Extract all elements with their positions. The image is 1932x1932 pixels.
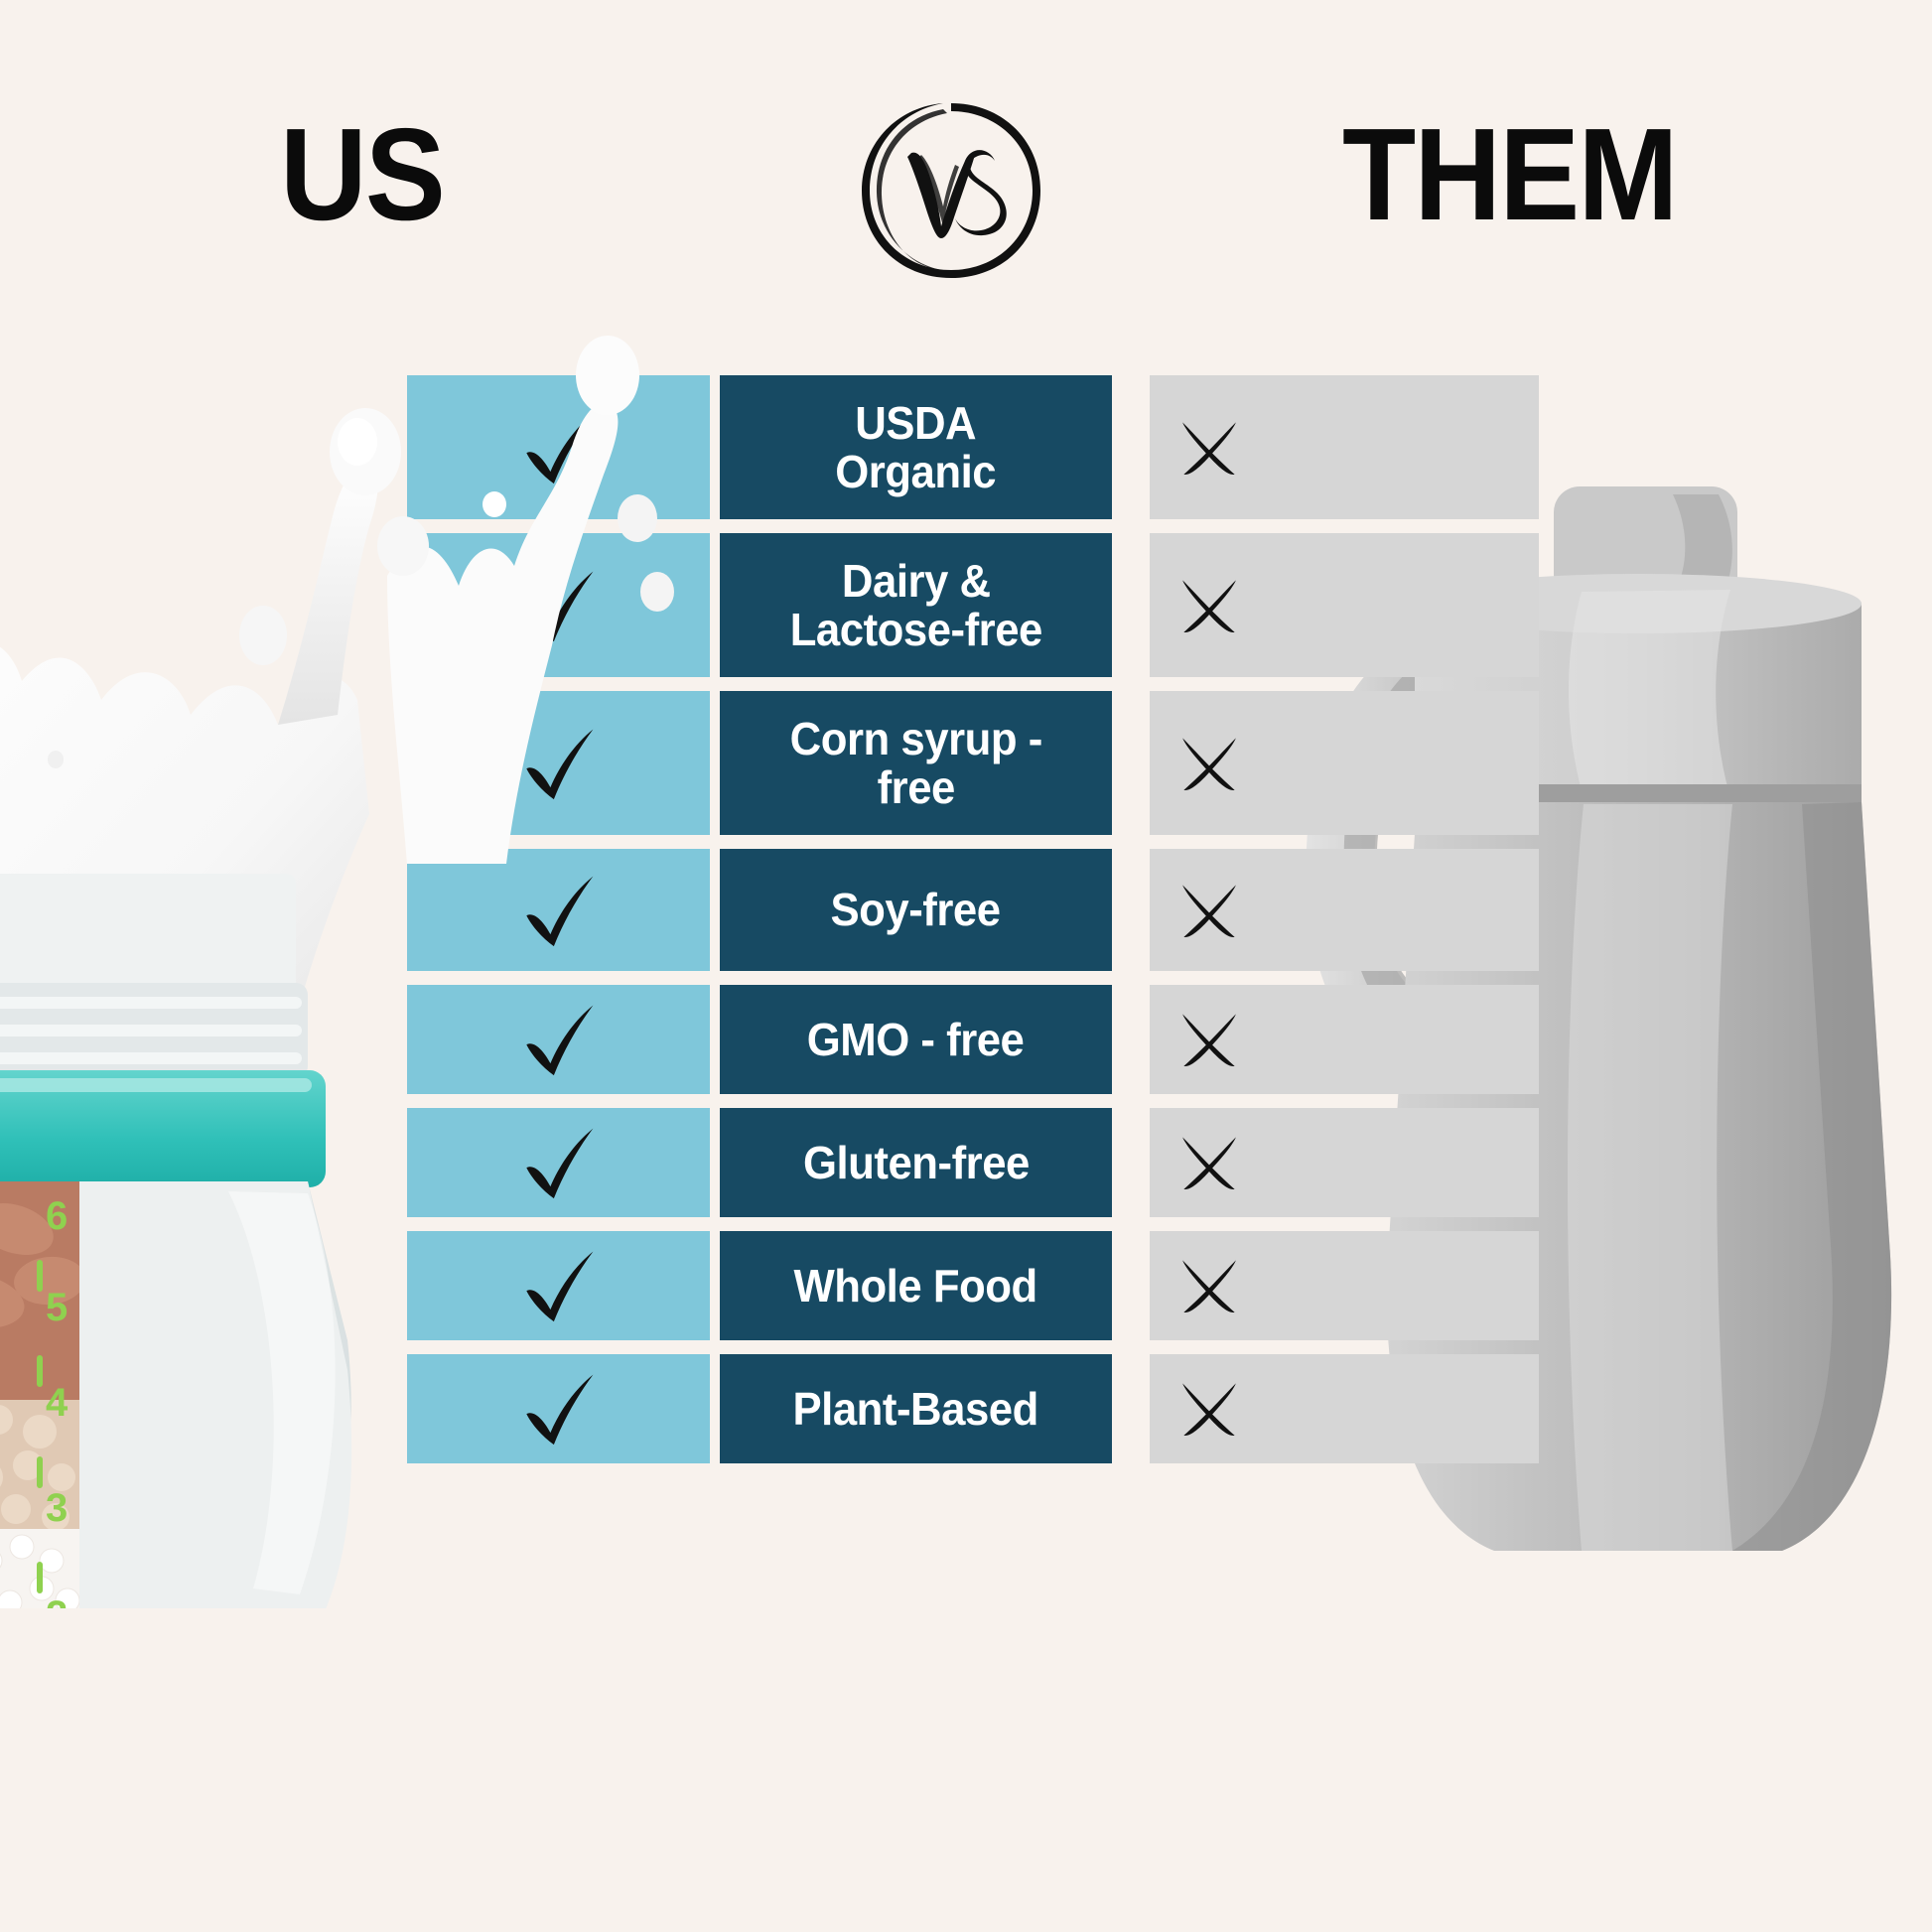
table-row: GMO - free (407, 985, 1539, 1094)
column-gap (710, 533, 720, 677)
row-gap (407, 971, 1539, 985)
feature-cell: Whole Food (720, 1231, 1112, 1340)
them-cell (1150, 533, 1539, 677)
column-gap (1112, 375, 1150, 519)
column-gap (1112, 849, 1150, 971)
x-icon (1177, 1131, 1241, 1194)
us-cell (407, 1108, 710, 1217)
feature-label: Gluten-free (803, 1139, 1030, 1186)
them-cell (1150, 375, 1539, 519)
feature-label: Corn syrup - free (789, 715, 1041, 811)
check-icon (516, 405, 602, 490)
infographic-canvas: 6 5 4 3 2 (0, 0, 1932, 1932)
column-gap (710, 985, 720, 1094)
them-cell (1150, 849, 1539, 971)
page-title-us: US (280, 109, 444, 240)
comparison-table: USDA Organic Dai (407, 375, 1539, 1463)
check-icon (516, 868, 602, 953)
table-row: Plant-Based (407, 1354, 1539, 1463)
column-gap (710, 1108, 720, 1217)
column-gap (1112, 691, 1150, 835)
x-icon (1177, 1008, 1241, 1071)
svg-text:4: 4 (46, 1381, 69, 1425)
feature-cell: Corn syrup - free (720, 691, 1112, 835)
column-gap (1112, 985, 1150, 1094)
check-icon (516, 997, 602, 1082)
svg-text:5: 5 (46, 1286, 68, 1329)
us-cell (407, 849, 710, 971)
them-cell (1150, 1354, 1539, 1463)
feature-label: Dairy & Lactose-free (789, 557, 1041, 653)
column-gap (1112, 1108, 1150, 1217)
svg-text:3: 3 (46, 1486, 68, 1530)
check-icon (516, 1243, 602, 1328)
x-icon (1177, 732, 1241, 795)
x-icon (1177, 574, 1241, 637)
check-icon (516, 1366, 602, 1451)
feature-cell: Dairy & Lactose-free (720, 533, 1112, 677)
svg-text:2: 2 (46, 1593, 68, 1608)
vs-circle-badge-icon (856, 95, 1046, 286)
feature-label: Whole Food (794, 1262, 1037, 1310)
feature-cell: Gluten-free (720, 1108, 1112, 1217)
column-gap (1112, 1354, 1150, 1463)
x-icon (1177, 1377, 1241, 1441)
row-gap (407, 1217, 1539, 1231)
row-gap (407, 835, 1539, 849)
feature-label: GMO - free (807, 1016, 1025, 1063)
table-row: USDA Organic (407, 375, 1539, 519)
column-gap (710, 691, 720, 835)
row-gap (407, 1094, 1539, 1108)
them-cell (1150, 1108, 1539, 1217)
svg-text:6: 6 (46, 1194, 68, 1238)
table-row: Gluten-free (407, 1108, 1539, 1217)
feature-cell: USDA Organic (720, 375, 1112, 519)
feature-cell: Plant-Based (720, 1354, 1112, 1463)
them-cell (1150, 1231, 1539, 1340)
column-gap (710, 849, 720, 971)
them-cell (1150, 985, 1539, 1094)
column-gap (1112, 1231, 1150, 1340)
x-icon (1177, 416, 1241, 480)
them-cell (1150, 691, 1539, 835)
us-cell (407, 375, 710, 519)
us-cell (407, 1354, 710, 1463)
column-gap (710, 1354, 720, 1463)
row-gap (407, 677, 1539, 691)
x-icon (1177, 1254, 1241, 1317)
page-title-them: THEM (1342, 109, 1677, 240)
bottle-icon: 6 5 4 3 2 (0, 874, 447, 1608)
feature-label: Plant-Based (793, 1385, 1038, 1433)
us-cell (407, 533, 710, 677)
feature-label: Soy-free (831, 886, 1001, 933)
column-gap (1112, 533, 1150, 677)
table-row: Soy-free (407, 849, 1539, 971)
check-icon (516, 1120, 602, 1205)
table-row: Whole Food (407, 1231, 1539, 1340)
table-row: Corn syrup - free (407, 691, 1539, 835)
us-cell (407, 691, 710, 835)
feature-label: USDA Organic (836, 399, 997, 495)
column-gap (710, 375, 720, 519)
check-icon (516, 563, 602, 648)
feature-cell: GMO - free (720, 985, 1112, 1094)
row-gap (407, 519, 1539, 533)
us-cell (407, 985, 710, 1094)
x-icon (1177, 879, 1241, 942)
table-row: Dairy & Lactose-free (407, 533, 1539, 677)
column-gap (710, 1231, 720, 1340)
us-cell (407, 1231, 710, 1340)
row-gap (407, 1340, 1539, 1354)
feature-cell: Soy-free (720, 849, 1112, 971)
check-icon (516, 721, 602, 806)
